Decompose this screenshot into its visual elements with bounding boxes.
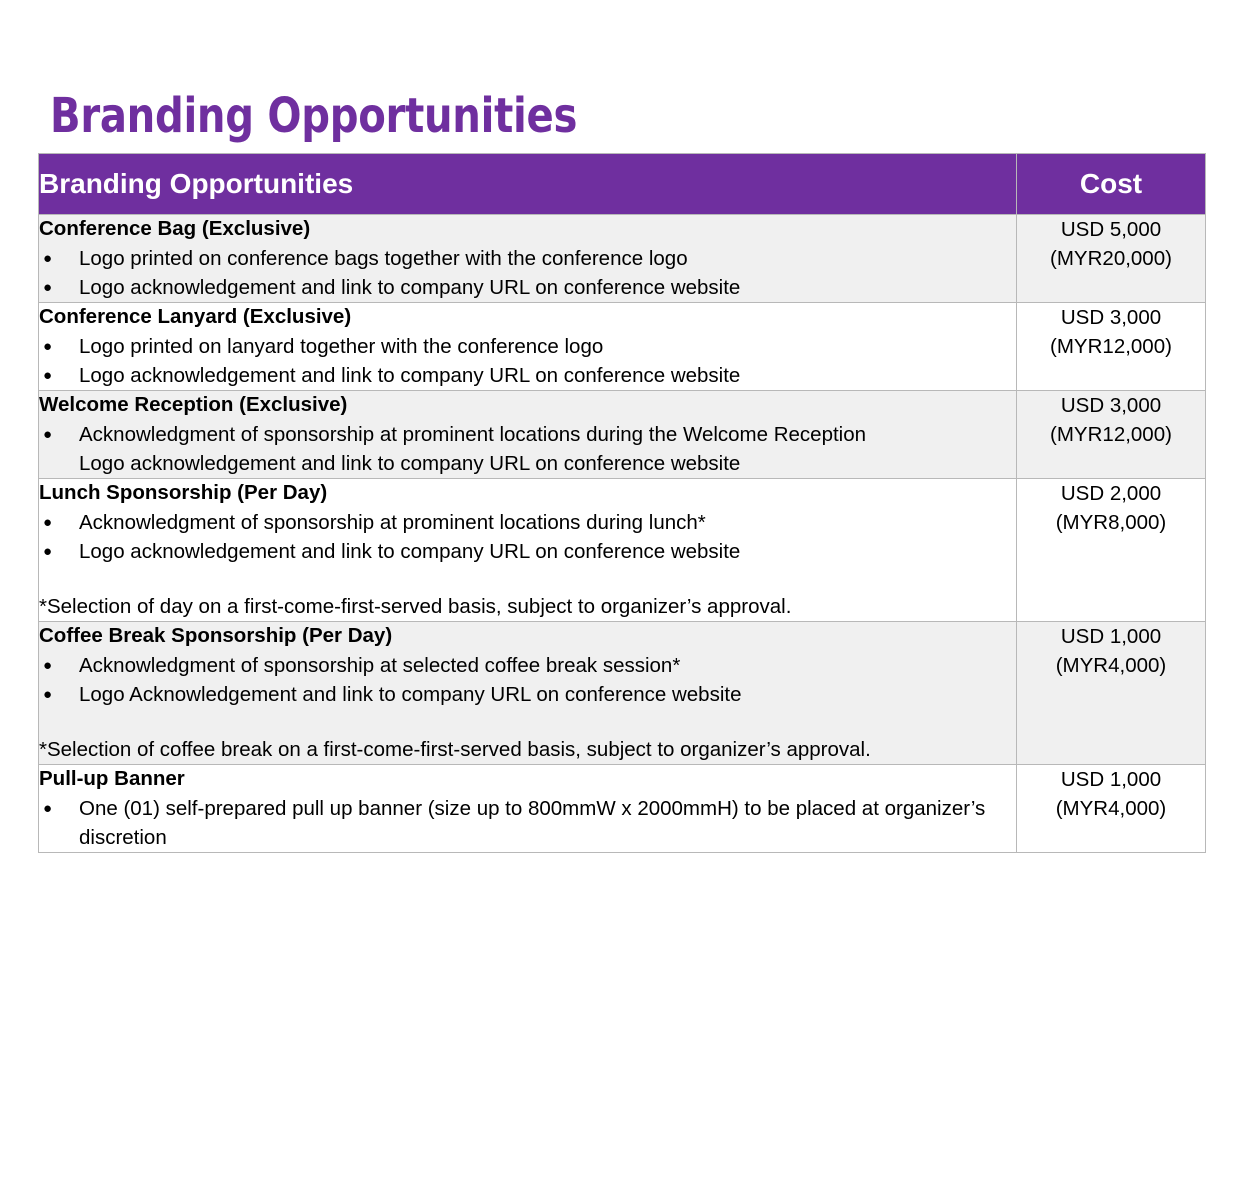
opportunity-bullet-list: Acknowledgment of sponsorship at promine… — [39, 420, 1016, 478]
cost-usd: USD 1,000 — [1017, 765, 1205, 794]
opportunity-bullet-list: One (01) self-prepared pull up banner (s… — [39, 794, 1016, 852]
opportunity-title: Pull-up Banner — [39, 765, 1016, 793]
branding-opportunities-table: Branding Opportunities Cost Conference B… — [38, 153, 1206, 853]
opportunity-bullet: Logo acknowledgement and link to company… — [39, 273, 1016, 302]
cost-cell: USD 2,000(MYR8,000) — [1017, 479, 1206, 622]
cost-cell: USD 5,000(MYR20,000) — [1017, 215, 1206, 303]
opportunity-footnote: *Selection of day on a first-come-first-… — [39, 592, 1016, 621]
opportunity-bullet: Logo printed on lanyard together with th… — [39, 332, 1016, 361]
opportunity-title: Welcome Reception (Exclusive) — [39, 391, 1016, 419]
opportunity-cell: Coffee Break Sponsorship (Per Day)Acknow… — [39, 622, 1017, 765]
opportunity-cell: Conference Lanyard (Exclusive)Logo print… — [39, 303, 1017, 391]
cost-cell: USD 1,000(MYR4,000) — [1017, 765, 1206, 853]
opportunity-bullet-list: Logo printed on lanyard together with th… — [39, 332, 1016, 390]
cost-usd: USD 1,000 — [1017, 622, 1205, 651]
cost-cell: USD 3,000(MYR12,000) — [1017, 391, 1206, 479]
opportunity-bullet-list: Logo printed on conference bags together… — [39, 244, 1016, 302]
column-header-cost: Cost — [1017, 154, 1206, 215]
document-page: Branding Opportunities Branding Opportun… — [0, 0, 1238, 1182]
opportunity-bullet: Acknowledgment of sponsorship at promine… — [39, 508, 1016, 537]
opportunity-title: Lunch Sponsorship (Per Day) — [39, 479, 1016, 507]
opportunity-bullet: Logo printed on conference bags together… — [39, 244, 1016, 273]
opportunity-bullet: Logo acknowledgement and link to company… — [39, 361, 1016, 390]
table-body: Conference Bag (Exclusive)Logo printed o… — [39, 215, 1206, 853]
opportunity-title: Conference Bag (Exclusive) — [39, 215, 1016, 243]
opportunity-title: Coffee Break Sponsorship (Per Day) — [39, 622, 1016, 650]
cost-myr: (MYR8,000) — [1017, 508, 1205, 537]
opportunity-bullet: Logo acknowledgement and link to company… — [39, 537, 1016, 566]
table-header: Branding Opportunities Cost — [39, 154, 1206, 215]
cost-cell: USD 1,000(MYR4,000) — [1017, 622, 1206, 765]
cost-cell: USD 3,000(MYR12,000) — [1017, 303, 1206, 391]
cost-usd: USD 5,000 — [1017, 215, 1205, 244]
page-title: Branding Opportunities — [50, 88, 577, 144]
opportunity-bullet: Acknowledgment of sponsorship at promine… — [39, 420, 1016, 449]
column-header-opportunity: Branding Opportunities — [39, 154, 1017, 215]
cost-usd: USD 2,000 — [1017, 479, 1205, 508]
cost-usd: USD 3,000 — [1017, 303, 1205, 332]
opportunity-cell: Welcome Reception (Exclusive)Acknowledgm… — [39, 391, 1017, 479]
cost-myr: (MYR4,000) — [1017, 794, 1205, 823]
opportunity-bullet: Logo acknowledgement and link to company… — [39, 449, 1016, 478]
branding-opportunities-table-wrap: Branding Opportunities Cost Conference B… — [38, 153, 1205, 853]
cost-usd: USD 3,000 — [1017, 391, 1205, 420]
table-row: Lunch Sponsorship (Per Day)Acknowledgmen… — [39, 479, 1206, 622]
table-row: Conference Bag (Exclusive)Logo printed o… — [39, 215, 1206, 303]
cost-myr: (MYR12,000) — [1017, 332, 1205, 361]
table-row: Pull-up BannerOne (01) self-prepared pul… — [39, 765, 1206, 853]
opportunity-bullet: One (01) self-prepared pull up banner (s… — [39, 794, 1016, 852]
opportunity-bullet: Acknowledgment of sponsorship at selecte… — [39, 651, 1016, 680]
opportunity-cell: Lunch Sponsorship (Per Day)Acknowledgmen… — [39, 479, 1017, 622]
table-header-row: Branding Opportunities Cost — [39, 154, 1206, 215]
cost-myr: (MYR12,000) — [1017, 420, 1205, 449]
opportunity-cell: Pull-up BannerOne (01) self-prepared pul… — [39, 765, 1017, 853]
table-row: Conference Lanyard (Exclusive)Logo print… — [39, 303, 1206, 391]
opportunity-footnote: *Selection of coffee break on a first-co… — [39, 735, 1016, 764]
opportunity-bullet: Logo Acknowledgement and link to company… — [39, 680, 1016, 709]
table-row: Coffee Break Sponsorship (Per Day)Acknow… — [39, 622, 1206, 765]
opportunity-bullet-list: Acknowledgment of sponsorship at promine… — [39, 508, 1016, 566]
table-row: Welcome Reception (Exclusive)Acknowledgm… — [39, 391, 1206, 479]
cost-myr: (MYR20,000) — [1017, 244, 1205, 273]
cost-myr: (MYR4,000) — [1017, 651, 1205, 680]
opportunity-bullet-list: Acknowledgment of sponsorship at selecte… — [39, 651, 1016, 709]
opportunity-cell: Conference Bag (Exclusive)Logo printed o… — [39, 215, 1017, 303]
opportunity-title: Conference Lanyard (Exclusive) — [39, 303, 1016, 331]
